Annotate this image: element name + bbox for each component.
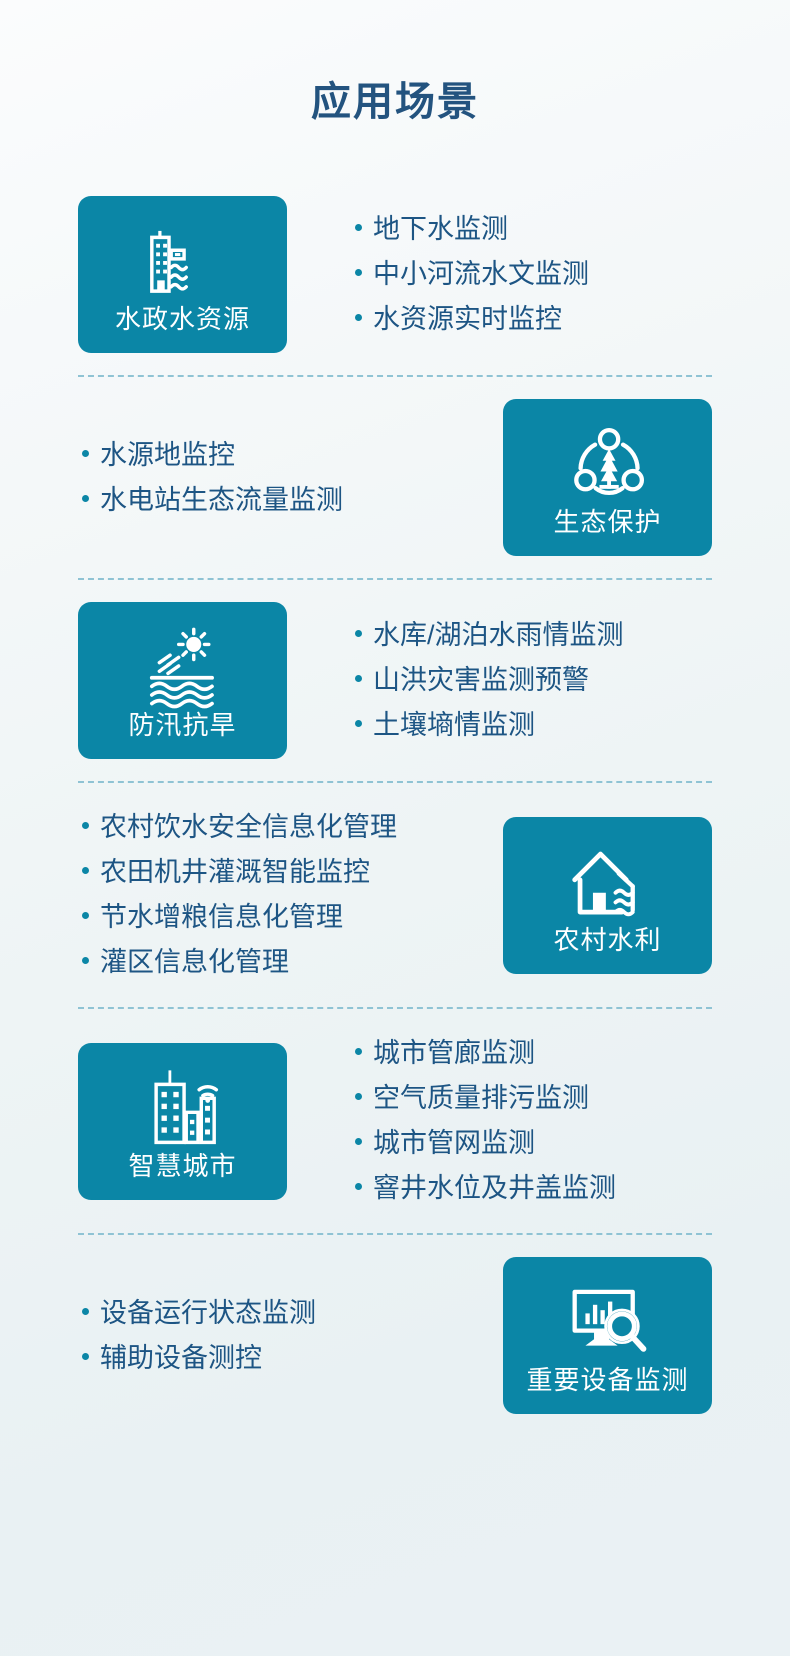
scenario-bullet-label: 城市管网监测 — [373, 1130, 535, 1157]
category-card[interactable]: 农村水利 — [503, 817, 712, 974]
list-item: 水源地监控 — [82, 433, 343, 478]
category-card-label: 防汛抗旱 — [128, 712, 236, 738]
list-item: 辅助设备测控 — [82, 1336, 316, 1381]
spacer — [0, 174, 790, 196]
scenario-bullet-label: 城市管廊监测 — [373, 1040, 535, 1067]
scenario-bullet-label: 窨井水位及井盖监测 — [373, 1175, 616, 1202]
bullet-dot-icon — [355, 675, 362, 682]
scenario-bullet-list: 设备运行状态监测辅助设备测控 — [82, 1291, 316, 1381]
bullet-dot-icon — [82, 1353, 89, 1360]
bullet-dot-icon — [82, 450, 89, 457]
bullet-dot-icon — [355, 1138, 362, 1145]
bullet-dot-icon — [82, 912, 89, 919]
monitor-chart-search-icon — [565, 1279, 651, 1365]
scenario-bullet-list: 水源地监控水电站生态流量监测 — [82, 433, 343, 523]
bullet-dot-icon — [355, 224, 362, 231]
page-title: 应用场景 — [0, 0, 790, 122]
bullet-dot-icon — [82, 495, 89, 502]
scenario-bullet-label: 水电站生态流量监测 — [100, 487, 343, 514]
list-item: 设备运行状态监测 — [82, 1291, 316, 1336]
sun-waves-icon — [140, 624, 226, 710]
list-item: 空气质量排污监测 — [355, 1076, 616, 1121]
bullet-dot-icon — [355, 1048, 362, 1055]
category-card-label: 重要设备监测 — [526, 1367, 688, 1393]
list-item: 中小河流水文监测 — [355, 252, 589, 297]
spacer — [0, 985, 790, 1007]
spacer — [0, 783, 790, 805]
category-card[interactable]: 生态保护 — [503, 399, 712, 556]
scenario-bullet-label: 水源地监控 — [100, 442, 235, 469]
category-card-label: 生态保护 — [553, 509, 661, 535]
bullet-dot-icon — [82, 822, 89, 829]
list-item: 水资源实时监控 — [355, 297, 589, 342]
list-item: 水电站生态流量监测 — [82, 478, 343, 523]
spacer — [0, 580, 790, 602]
category-card[interactable]: 智慧城市 — [78, 1043, 287, 1200]
bullet-dot-icon — [82, 957, 89, 964]
list-item: 农村饮水安全信息化管理 — [82, 805, 397, 850]
bullet-dot-icon — [82, 867, 89, 874]
scenario-section: 水源地监控水电站生态流量监测生态保护 — [0, 399, 790, 556]
scenario-bullet-label: 灌区信息化管理 — [100, 949, 289, 976]
spacer — [0, 1414, 790, 1436]
list-item: 水库/湖泊水雨情监测 — [355, 613, 624, 658]
scenario-bullet-label: 土壤墒情监测 — [373, 712, 535, 739]
section-inner: 智慧城市城市管廊监测空气质量排污监测城市管网监测窨井水位及井盖监测 — [78, 1031, 712, 1211]
bullet-dot-icon — [355, 1183, 362, 1190]
scenario-section: 智慧城市城市管廊监测空气质量排污监测城市管网监测窨井水位及井盖监测 — [0, 1031, 790, 1211]
list-item: 农田机井灌溉智能监控 — [82, 850, 397, 895]
bullet-dot-icon — [355, 720, 362, 727]
list-item: 灌区信息化管理 — [82, 940, 397, 985]
section-inner: 农村饮水安全信息化管理农田机井灌溉智能监控节水增粮信息化管理灌区信息化管理农村水… — [78, 805, 712, 985]
city-wifi-icon — [140, 1065, 226, 1151]
spacer — [0, 377, 790, 399]
spacer — [0, 1009, 790, 1031]
scenario-bullet-list: 地下水监测中小河流水文监测水资源实时监控 — [355, 207, 589, 342]
scenario-bullet-label: 设备运行状态监测 — [100, 1300, 316, 1327]
list-item: 城市管网监测 — [355, 1121, 616, 1166]
scenario-bullet-list: 水库/湖泊水雨情监测山洪灾害监测预警土壤墒情监测 — [355, 613, 624, 748]
category-card[interactable]: 防汛抗旱 — [78, 602, 287, 759]
building-water-icon — [140, 218, 226, 304]
scenario-bullet-label: 辅助设备测控 — [100, 1345, 262, 1372]
category-card-label: 水政水资源 — [115, 306, 250, 332]
category-card-label: 农村水利 — [553, 927, 661, 953]
scenario-sections: 水政水资源地下水监测中小河流水文监测水资源实时监控水源地监控水电站生态流量监测生… — [0, 174, 790, 1436]
section-inner: 水政水资源地下水监测中小河流水文监测水资源实时监控 — [78, 196, 712, 353]
scenario-bullet-label: 空气质量排污监测 — [373, 1085, 589, 1112]
list-item: 土壤墒情监测 — [355, 703, 624, 748]
scenario-bullet-label: 中小河流水文监测 — [373, 261, 589, 288]
bullet-dot-icon — [355, 314, 362, 321]
scenario-bullet-list: 农村饮水安全信息化管理农田机井灌溉智能监控节水增粮信息化管理灌区信息化管理 — [82, 805, 397, 985]
category-card-label: 智慧城市 — [128, 1153, 236, 1179]
scenario-bullet-label: 农田机井灌溉智能监控 — [100, 859, 370, 886]
scenario-section: 防汛抗旱水库/湖泊水雨情监测山洪灾害监测预警土壤墒情监测 — [0, 602, 790, 759]
scenario-section: 设备运行状态监测辅助设备测控重要设备监测 — [0, 1257, 790, 1414]
scenario-bullet-label: 农村饮水安全信息化管理 — [100, 814, 397, 841]
scenario-bullet-label: 水资源实时监控 — [373, 306, 562, 333]
spacer — [0, 1235, 790, 1257]
scenario-section: 农村饮水安全信息化管理农田机井灌溉智能监控节水增粮信息化管理灌区信息化管理农村水… — [0, 805, 790, 985]
list-item: 窨井水位及井盖监测 — [355, 1166, 616, 1211]
bullet-dot-icon — [355, 1093, 362, 1100]
bullet-dot-icon — [355, 630, 362, 637]
spacer — [0, 353, 790, 375]
list-item: 地下水监测 — [355, 207, 589, 252]
scenario-bullet-label: 山洪灾害监测预警 — [373, 667, 589, 694]
spacer — [0, 556, 790, 578]
list-item: 山洪灾害监测预警 — [355, 658, 624, 703]
eco-tree-network-icon — [565, 421, 651, 507]
section-inner: 水源地监控水电站生态流量监测生态保护 — [78, 399, 712, 556]
section-inner: 防汛抗旱水库/湖泊水雨情监测山洪灾害监测预警土壤墒情监测 — [78, 602, 712, 759]
bullet-dot-icon — [82, 1308, 89, 1315]
scenario-bullet-list: 城市管廊监测空气质量排污监测城市管网监测窨井水位及井盖监测 — [355, 1031, 616, 1211]
category-card[interactable]: 重要设备监测 — [503, 1257, 712, 1414]
scenario-bullet-label: 地下水监测 — [373, 216, 508, 243]
scenario-section: 水政水资源地下水监测中小河流水文监测水资源实时监控 — [0, 196, 790, 353]
spacer — [0, 759, 790, 781]
list-item: 城市管廊监测 — [355, 1031, 616, 1076]
list-item: 节水增粮信息化管理 — [82, 895, 397, 940]
scenario-bullet-label: 节水增粮信息化管理 — [100, 904, 343, 931]
section-inner: 设备运行状态监测辅助设备测控重要设备监测 — [78, 1257, 712, 1414]
bullet-dot-icon — [355, 269, 362, 276]
scenario-bullet-label: 水库/湖泊水雨情监测 — [373, 622, 624, 649]
spacer — [0, 1211, 790, 1233]
house-water-icon — [565, 839, 651, 925]
category-card[interactable]: 水政水资源 — [78, 196, 287, 353]
